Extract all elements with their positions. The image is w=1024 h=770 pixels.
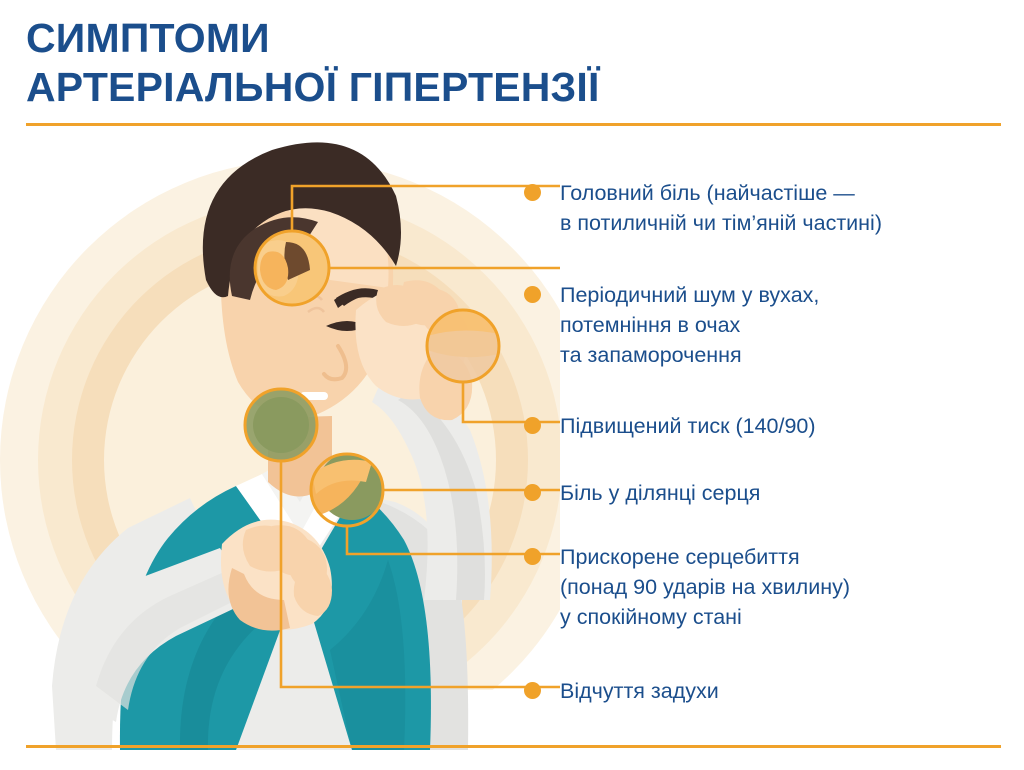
bullet-dot-icon [524,484,541,501]
bullet-dot-icon [524,286,541,303]
title-line-2: АРТЕРІАЛЬНОЇ ГІПЕРТЕНЗІЇ [26,63,926,112]
upper-chest-magnifier [245,389,317,461]
hypertension-illustration [0,130,560,750]
symptom-text-breathlessness: Відчуття задухи [560,676,1024,706]
symptom-text-headache: Головний біль (найчастіше — в потиличній… [560,178,1024,238]
bottom-divider-rule [26,745,1001,748]
bullet-dot-icon [524,548,541,565]
infographic-poster: СИМПТОМИ АРТЕРІАЛЬНОЇ ГІПЕРТЕНЗІЇ [0,0,1024,770]
symptom-text-heart-pain: Біль у ділянці серця [560,478,1024,508]
wrist-magnifier [427,310,499,382]
symptom-text-high-pressure: Підвищений тиск (140/90) [560,411,1024,441]
symptom-text-fast-heartbeat: Прискорене серцебиття (понад 90 ударів н… [560,542,1024,632]
page-title: СИМПТОМИ АРТЕРІАЛЬНОЇ ГІПЕРТЕНЗІЇ [26,14,926,112]
title-line-1: СИМПТОМИ [26,14,926,63]
bullet-dot-icon [524,184,541,201]
title-divider-rule [26,123,1001,126]
bullet-dot-icon [524,417,541,434]
symptom-text-ear-noise: Періодичний шум у вухах, потемніння в оч… [560,280,1024,370]
bullet-dot-icon [524,682,541,699]
ear-magnifier [255,231,329,305]
